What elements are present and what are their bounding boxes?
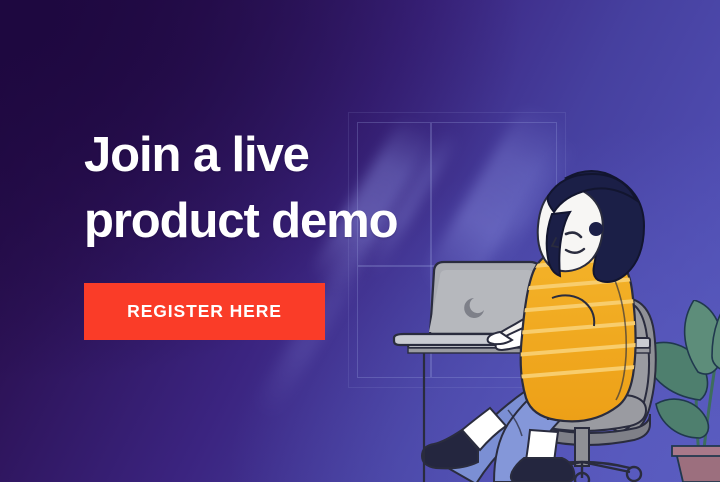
page-title: Join a live product demo xyxy=(84,122,484,254)
chair-wheel xyxy=(523,467,537,481)
sock-front xyxy=(462,408,506,450)
knee-crease xyxy=(508,410,522,436)
shoe-front xyxy=(422,430,478,468)
promo-banner: Join a live product demo REGISTER HERE xyxy=(0,0,720,482)
plant-leaf xyxy=(712,296,720,372)
chair-backrest-front xyxy=(608,302,649,432)
copy-block: Join a live product demo REGISTER HERE xyxy=(84,122,484,340)
hair-back xyxy=(566,171,644,282)
sock-rear xyxy=(526,430,558,462)
register-here-button[interactable]: REGISTER HERE xyxy=(84,283,325,340)
eye xyxy=(566,233,581,237)
chair-seat xyxy=(524,392,646,431)
shoe-rear xyxy=(511,458,574,482)
plant-pot xyxy=(676,452,720,482)
chair-wheel xyxy=(575,473,589,482)
plant-pot-rim xyxy=(672,446,720,456)
plant-leaf xyxy=(642,342,707,400)
chair-backrest xyxy=(620,298,656,436)
ear xyxy=(589,222,603,236)
mouth xyxy=(566,249,584,253)
potted-plant xyxy=(642,296,720,482)
chair-base xyxy=(534,462,630,468)
plant-leaf xyxy=(685,300,720,374)
chair-wheel xyxy=(627,467,641,481)
chair-seat-shadow xyxy=(528,412,650,445)
torso-contour xyxy=(614,278,626,400)
chair-cylinder xyxy=(575,428,589,466)
plant-leaf xyxy=(656,399,708,438)
chair-base-spokes xyxy=(534,462,630,478)
leg-front xyxy=(448,372,582,482)
feet xyxy=(422,408,574,482)
